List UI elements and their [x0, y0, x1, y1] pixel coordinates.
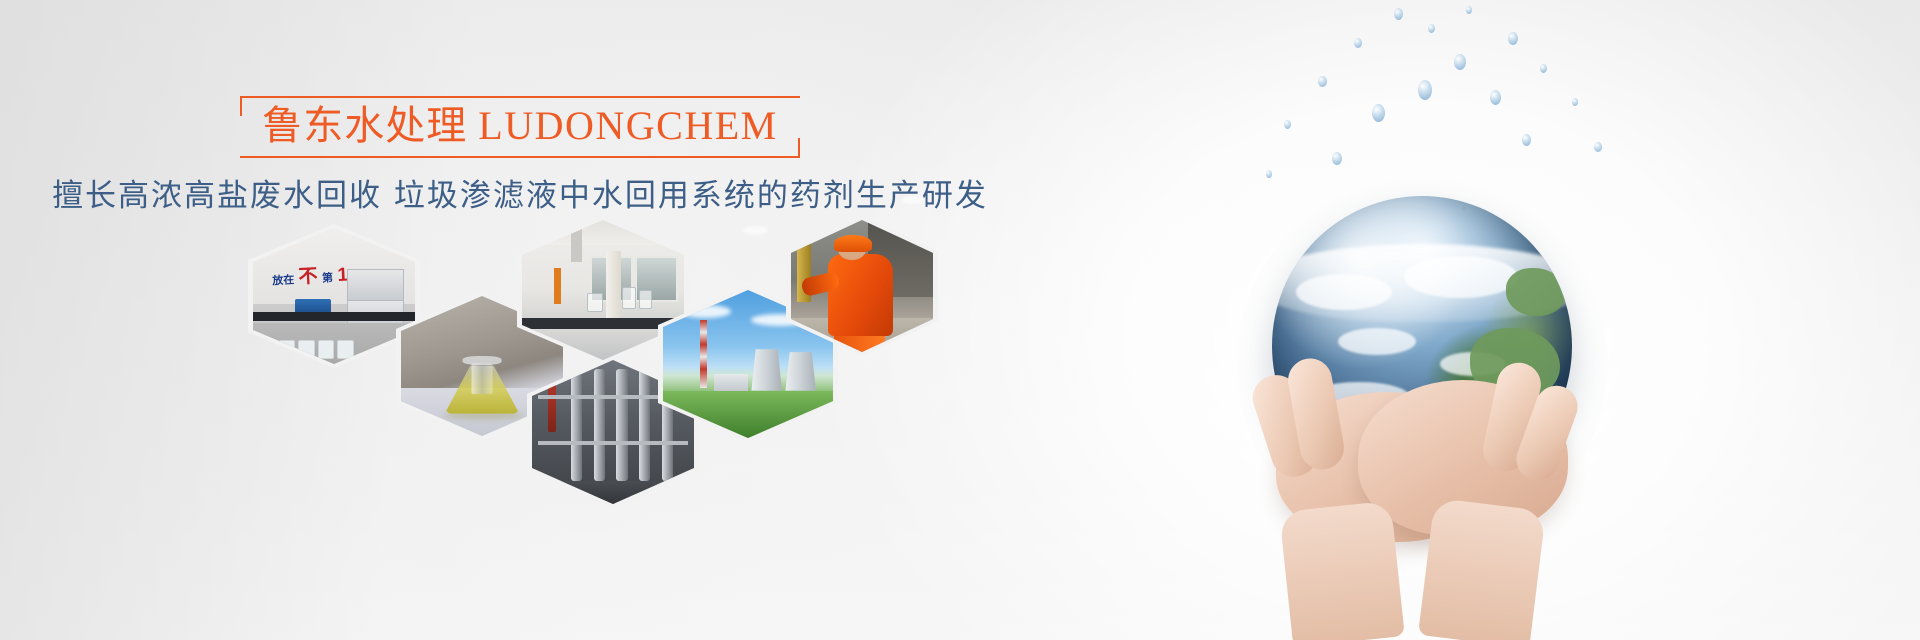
hands: [1190, 356, 1660, 640]
slogan-part-2: 不: [298, 261, 318, 289]
speck-2: [1498, 232, 1501, 235]
slogan-part-3: 第: [322, 269, 334, 286]
slogan-part-1: 放在: [272, 271, 295, 288]
globe-artwork: [1160, 0, 1920, 640]
bokeh-2: [902, 196, 924, 204]
speck-1: [1462, 206, 1466, 210]
banner-stage: 鲁东水处理 LUDONGCHEM 擅长高浓高盐废水回收 垃圾渗滤液中水回用系统的…: [0, 0, 1920, 640]
hexagon-gallery: 放在 不 第 1 位: [0, 0, 1040, 640]
bokeh-1: [742, 226, 768, 235]
